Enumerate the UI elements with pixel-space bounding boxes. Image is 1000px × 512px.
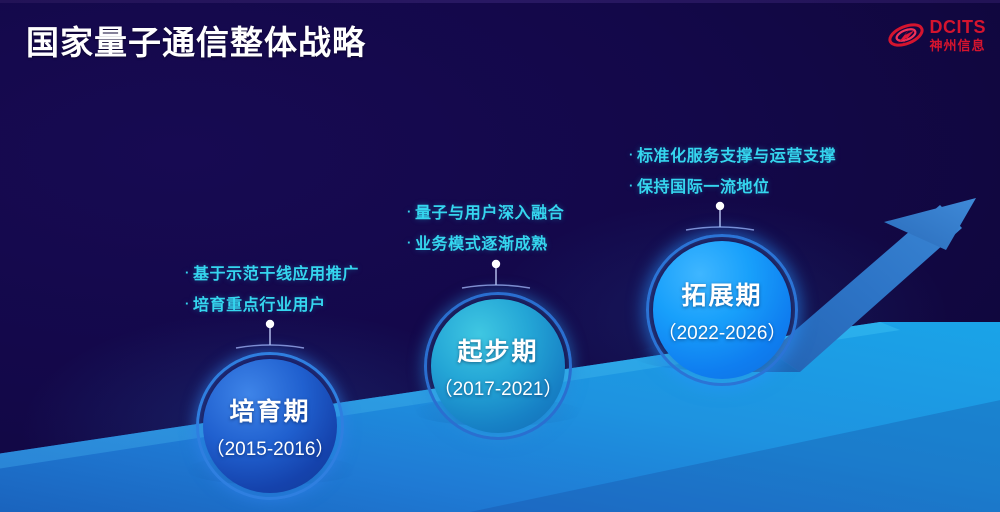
page-title: 国家量子通信整体战略 bbox=[26, 16, 366, 64]
stage-node-1[interactable]: 培育期 （2015-2016） bbox=[196, 352, 344, 500]
spiral-swirl-icon bbox=[887, 18, 925, 52]
stage-node-3-label: 拓展期 bbox=[681, 276, 762, 312]
bullet-dot-icon: · bbox=[185, 265, 190, 280]
bullet-dot-icon: · bbox=[185, 296, 190, 311]
stage-3-bullet-1-text: 标准化服务支撑与运营支撑 bbox=[637, 148, 836, 165]
stage-3-callout: ·标准化服务支撑与运营支撑 ·保持国际一流地位 bbox=[629, 140, 836, 202]
logo-brand-sub: 神州信息 bbox=[930, 39, 987, 52]
stage-2-bullet-2: ·业务模式逐渐成熟 bbox=[407, 228, 564, 259]
stage-1-bullet-1-text: 基于示范干线应用推广 bbox=[193, 266, 359, 283]
stage-1-bullet-1: ·基于示范干线应用推广 bbox=[185, 258, 359, 289]
bullet-dot-icon: · bbox=[629, 147, 634, 162]
stage-node-2-years: （2017-2021） bbox=[434, 374, 563, 401]
stage-2-callout: ·量子与用户深入融合 ·业务模式逐渐成熟 bbox=[407, 197, 564, 259]
stage-node-3[interactable]: 拓展期 （2022-2026） bbox=[646, 234, 798, 386]
stage-1-callout: ·基于示范干线应用推广 ·培育重点行业用户 bbox=[185, 258, 359, 320]
stage-3-bullet-2: ·保持国际一流地位 bbox=[629, 171, 836, 202]
stage-node-1-label: 培育期 bbox=[229, 392, 310, 428]
stage-node-2[interactable]: 起步期 （2017-2021） bbox=[424, 292, 572, 440]
stage-1-bullet-2-text: 培育重点行业用户 bbox=[193, 297, 326, 314]
logo-text-block: DCITS 神州信息 bbox=[930, 18, 987, 52]
bullet-dot-icon: · bbox=[407, 235, 412, 250]
company-logo: DCITS 神州信息 bbox=[887, 14, 987, 56]
stage-node-3-years: （2022-2026） bbox=[658, 318, 787, 345]
stage-node-1-years: （2015-2016） bbox=[206, 434, 335, 461]
stage-3-bullet-2-text: 保持国际一流地位 bbox=[637, 179, 770, 196]
logo-brand-name: DCITS bbox=[930, 18, 987, 36]
stage-2-bullet-1: ·量子与用户深入融合 bbox=[407, 197, 564, 228]
stage-3-bullet-1: ·标准化服务支撑与运营支撑 bbox=[629, 140, 836, 171]
stage-2-bullet-2-text: 业务模式逐渐成熟 bbox=[415, 236, 548, 253]
stage-2-bullet-1-text: 量子与用户深入融合 bbox=[415, 205, 564, 222]
stage-1-bullet-2: ·培育重点行业用户 bbox=[185, 289, 359, 320]
slide-header: 国家量子通信整体战略 DCITS 神州信息 bbox=[0, 0, 1000, 74]
slide-canvas: 国家量子通信整体战略 DCITS 神州信息 培育期 （2015-2016） 起步… bbox=[0, 0, 1000, 512]
bullet-dot-icon: · bbox=[629, 178, 634, 193]
bullet-dot-icon: · bbox=[407, 204, 412, 219]
stage-node-2-label: 起步期 bbox=[457, 332, 538, 368]
